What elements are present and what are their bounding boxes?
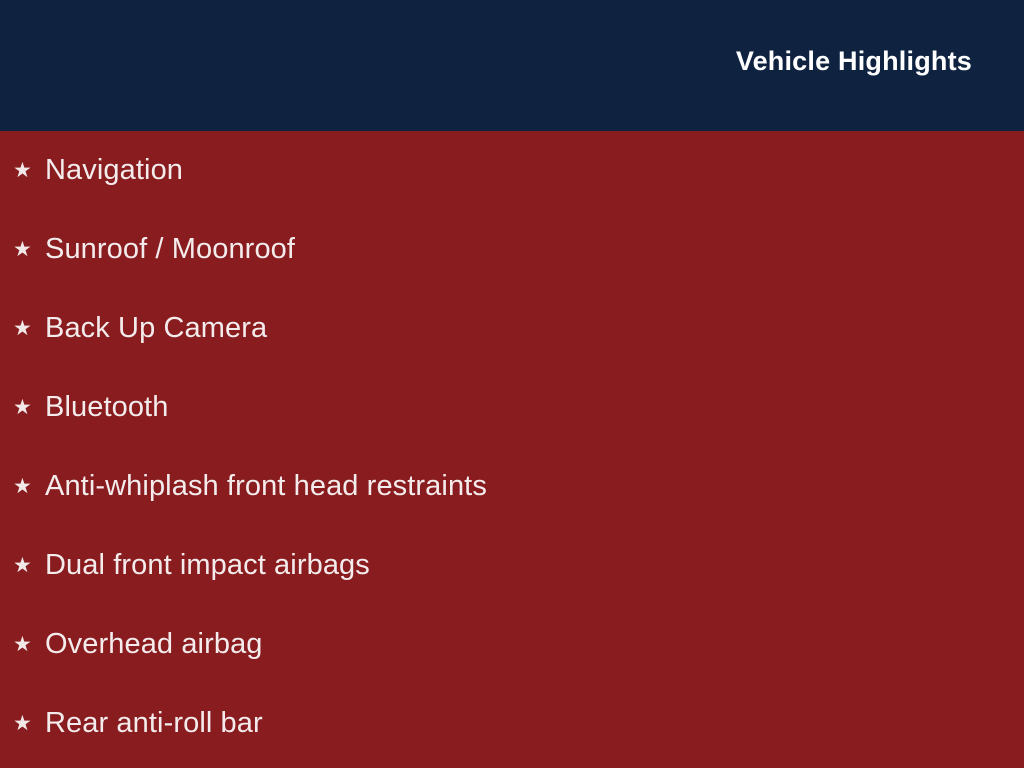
list-item: ★ Dual front impact airbags [0,526,1024,605]
list-item-label: Rear anti-roll bar [45,709,263,738]
vehicle-highlights-slide: Vehicle Highlights ★ Navigation ★ Sunroo… [0,0,1024,768]
star-icon: ★ [13,555,45,576]
list-item: ★ Bluetooth [0,368,1024,447]
list-item: ★ Back Up Camera [0,289,1024,368]
list-item: ★ Navigation [0,131,1024,210]
list-item: ★ Rear anti-roll bar [0,684,1024,763]
star-icon: ★ [13,239,45,260]
star-icon: ★ [13,397,45,418]
slide-header: Vehicle Highlights [0,0,1024,131]
list-item-label: Sunroof / Moonroof [45,235,295,264]
list-item-label: Back Up Camera [45,314,267,343]
star-icon: ★ [13,476,45,497]
list-item: ★ Sunroof / Moonroof [0,210,1024,289]
list-item-label: Navigation [45,156,183,185]
list-item: ★ Overhead airbag [0,605,1024,684]
list-item-label: Anti-whiplash front head restraints [45,472,487,501]
star-icon: ★ [13,318,45,339]
star-icon: ★ [13,713,45,734]
list-item-label: Bluetooth [45,393,168,422]
list-item: ★ Anti-whiplash front head restraints [0,447,1024,526]
list-item-label: Overhead airbag [45,630,263,659]
page-title: Vehicle Highlights [736,46,972,77]
star-icon: ★ [13,634,45,655]
vehicle-highlights-list: ★ Navigation ★ Sunroof / Moonroof ★ Back… [0,131,1024,763]
list-item-label: Dual front impact airbags [45,551,370,580]
star-icon: ★ [13,160,45,181]
